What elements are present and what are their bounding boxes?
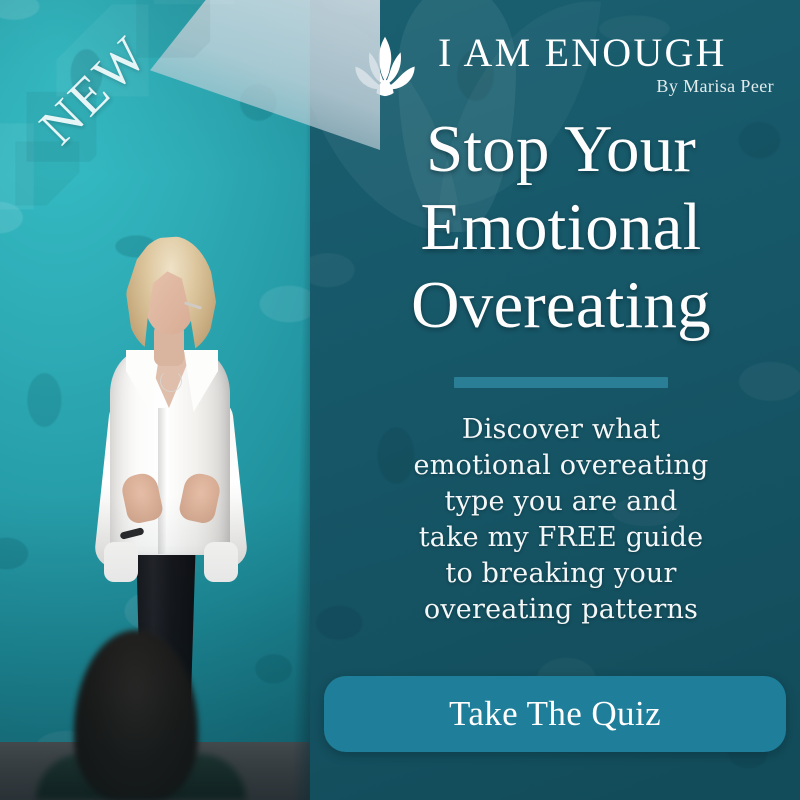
speaker-photo <box>0 0 318 800</box>
headline-line-2: Emotional <box>336 188 786 266</box>
brand-logo: I AM ENOUGH By Marisa Peer <box>346 28 776 120</box>
body-line-6: overeating patterns <box>330 592 792 628</box>
copy-panel: I AM ENOUGH By Marisa Peer Stop Your Emo… <box>310 0 800 800</box>
headline-line-1: Stop Your <box>336 110 786 188</box>
lotus-icon <box>346 32 424 104</box>
body-line-5: to breaking your <box>330 556 792 592</box>
page-title: Stop Your Emotional Overeating <box>336 110 786 344</box>
take-the-quiz-button[interactable]: Take The Quiz <box>324 676 786 752</box>
headline-line-3: Overeating <box>336 266 786 344</box>
body-line-3: type you are and <box>330 484 792 520</box>
photo-vignette <box>0 0 318 800</box>
body-copy: Discover what emotional overeating type … <box>330 412 792 628</box>
body-line-4: take my FREE guide <box>330 520 792 556</box>
headline-accent-bar <box>454 377 668 388</box>
brand-byline: By Marisa Peer <box>438 76 776 97</box>
ad-creative: I AM ENOUGH By Marisa Peer Stop Your Emo… <box>0 0 800 800</box>
brand-logo-text: I AM ENOUGH By Marisa Peer <box>438 28 776 97</box>
body-line-2: emotional overeating <box>330 448 792 484</box>
brand-title: I AM ENOUGH <box>438 28 776 78</box>
body-line-1: Discover what <box>330 412 792 448</box>
